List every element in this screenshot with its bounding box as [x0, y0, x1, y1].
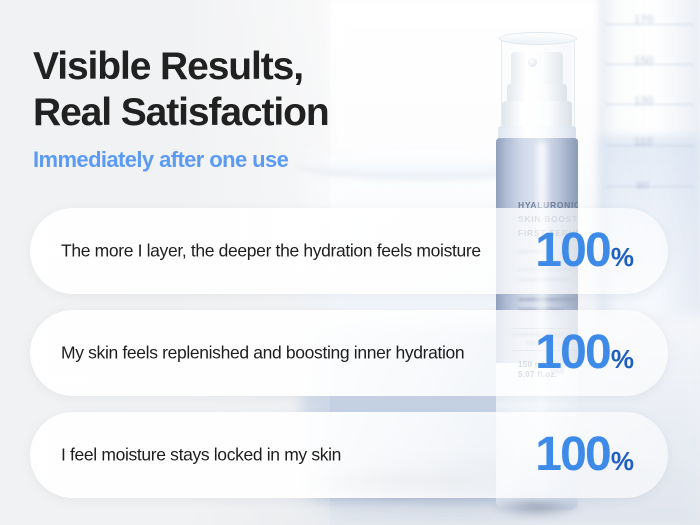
result-card: The more I layer, the deeper the hydrati… — [30, 208, 668, 294]
result-value: 100 — [535, 227, 610, 275]
result-percentage: 100 % — [535, 227, 634, 275]
result-percentage: 100 % — [535, 329, 634, 377]
result-unit: % — [611, 244, 634, 270]
result-value: 100 — [535, 329, 610, 377]
results-list: The more I layer, the deeper the hydrati… — [0, 0, 700, 525]
result-card: My skin feels replenished and boosting i… — [30, 310, 668, 396]
result-unit: % — [611, 346, 634, 372]
result-card: I feel moisture stays locked in my skin … — [30, 412, 668, 498]
result-percentage: 100 % — [535, 431, 634, 479]
result-value: 100 — [535, 431, 610, 479]
result-unit: % — [611, 448, 634, 474]
promo-banner: 170 150 130 110 90 HYALURONIC ACID SKIN … — [0, 0, 700, 525]
result-statement: My skin feels replenished and boosting i… — [61, 341, 481, 366]
result-statement: The more I layer, the deeper the hydrati… — [61, 239, 481, 264]
result-statement: I feel moisture stays locked in my skin — [61, 443, 481, 468]
